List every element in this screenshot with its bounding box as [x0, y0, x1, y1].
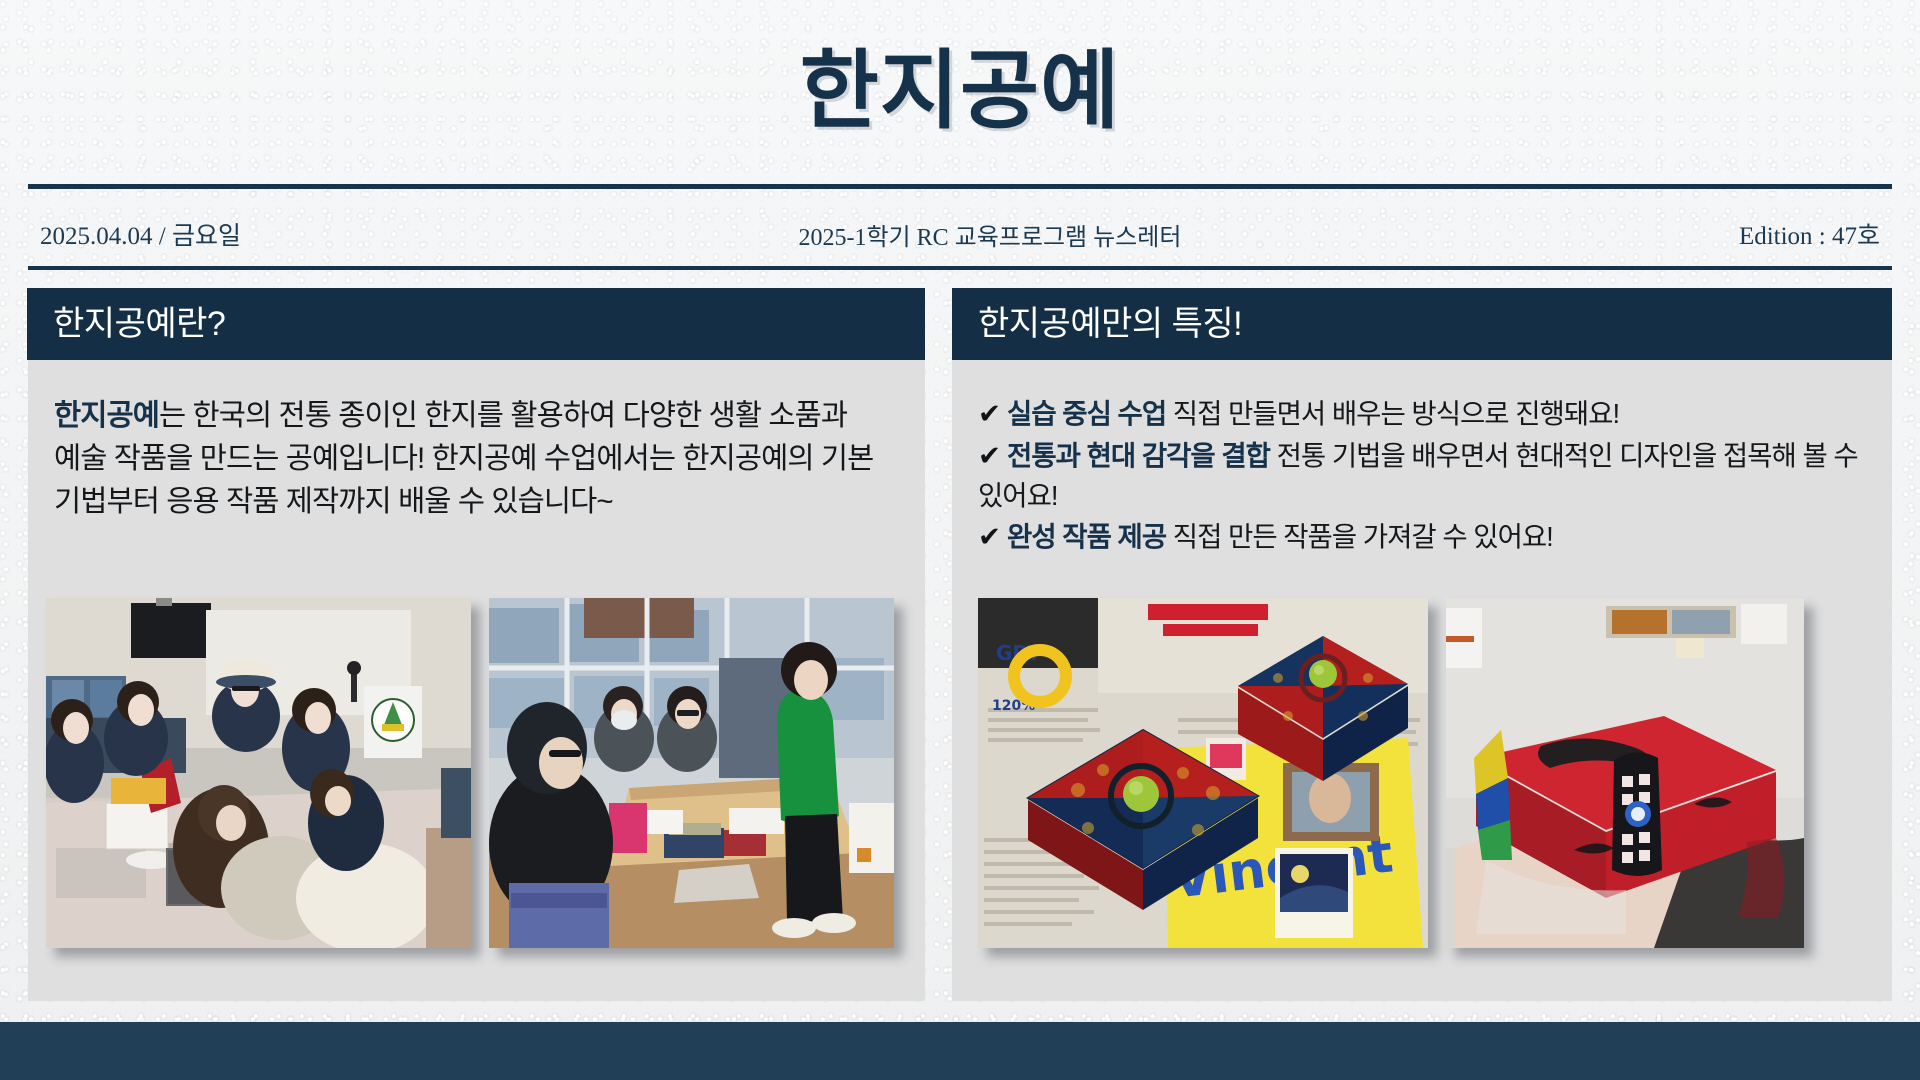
- hanji-boxes-on-newspaper-photo: GPT 120% Vincent: [978, 598, 1428, 948]
- panel-right-title: 한지공예만의 특징!: [978, 307, 1242, 341]
- feature-item-2-lead: 전통과 현대 감각을 결합: [1007, 440, 1270, 471]
- instructor-teaching-students-photo: [489, 598, 894, 948]
- newsletter-subtitle: 2025-1학기 RC 교육프로그램 뉴스레터: [241, 217, 1739, 252]
- hanji-description-paragraph: 한지공예는 한국의 전통 종이인 한지를 활용하여 다양한 생활 소품과 예술 …: [54, 394, 899, 523]
- feature-item-2: ✔전통과 현대 감각을 결합 전통 기법을 배우면서 현대적인 디자인을 접목해…: [978, 436, 1866, 515]
- photo-group-right: GPT 120% Vincent: [978, 598, 1804, 948]
- workshop-classroom-students-photo: [46, 598, 471, 948]
- red-hanji-tissue-box-photo: [1446, 598, 1804, 948]
- hanji-description-rest: 는 한국의 전통 종이인 한지를 활용하여 다양한 생활 소품과 예술 작품을 …: [54, 399, 873, 518]
- photo-group-left: [46, 598, 894, 948]
- newsletter-page: 한지공예 2025.04.04 / 금요일 2025-1학기 RC 교육프로그램…: [0, 0, 1920, 1080]
- footer-bar: [0, 1022, 1920, 1080]
- meta-row: 2025.04.04 / 금요일 2025-1학기 RC 교육프로그램 뉴스레터…: [40, 212, 1880, 256]
- check-icon: ✔: [978, 440, 1000, 472]
- feature-item-3-lead: 완성 작품 제공: [1007, 521, 1166, 552]
- hanji-keyword: 한지공예: [54, 399, 159, 432]
- panel-left-header: 한지공예란?: [27, 288, 925, 360]
- panel-left-title: 한지공예란?: [53, 307, 225, 341]
- feature-item-1-lead: 실습 중심 수업: [1007, 398, 1166, 429]
- check-icon: ✔: [978, 398, 1000, 430]
- issue-date: 2025.04.04 / 금요일: [40, 216, 241, 252]
- edition-number: Edition : 47호: [1739, 216, 1880, 252]
- masthead-rule-top: [28, 184, 1892, 189]
- feature-list: ✔실습 중심 수업 직접 만들면서 배우는 방식으로 진행돼요! ✔전통과 현대…: [978, 394, 1866, 557]
- panel-right-header: 한지공예만의 특징!: [952, 288, 1892, 360]
- panel-left-body: 한지공예는 한국의 전통 종이인 한지를 활용하여 다양한 생활 소품과 예술 …: [28, 360, 925, 523]
- feature-item-1: ✔실습 중심 수업 직접 만들면서 배우는 방식으로 진행돼요!: [978, 394, 1866, 434]
- feature-item-3: ✔완성 작품 제공 직접 만든 작품을 가져갈 수 있어요!: [978, 517, 1866, 557]
- masthead-rule-bottom: [28, 266, 1892, 270]
- page-title: 한지공예: [0, 48, 1920, 134]
- feature-item-3-rest: 직접 만든 작품을 가져갈 수 있어요!: [1173, 521, 1553, 552]
- check-icon: ✔: [978, 521, 1000, 553]
- panel-right-body: ✔실습 중심 수업 직접 만들면서 배우는 방식으로 진행돼요! ✔전통과 현대…: [952, 360, 1892, 557]
- feature-item-1-rest: 직접 만들면서 배우는 방식으로 진행돼요!: [1173, 398, 1619, 429]
